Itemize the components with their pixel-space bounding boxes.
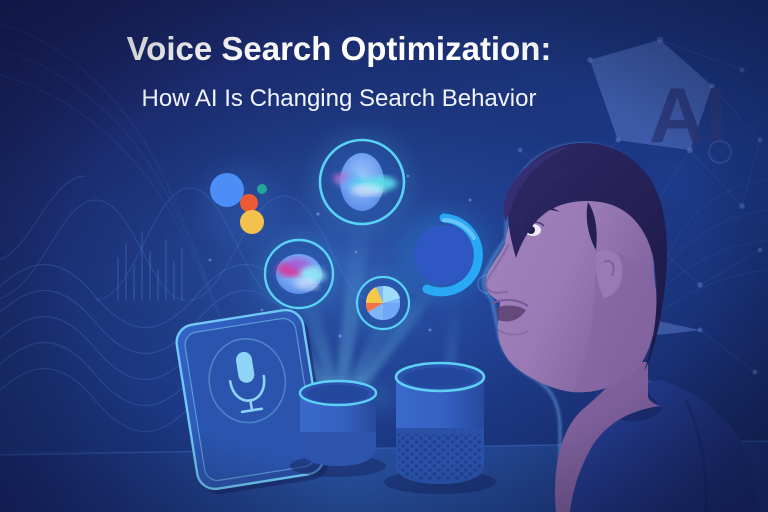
voice-search-hero-illustration: AI — [0, 0, 768, 512]
vignette-overlay — [0, 0, 768, 512]
